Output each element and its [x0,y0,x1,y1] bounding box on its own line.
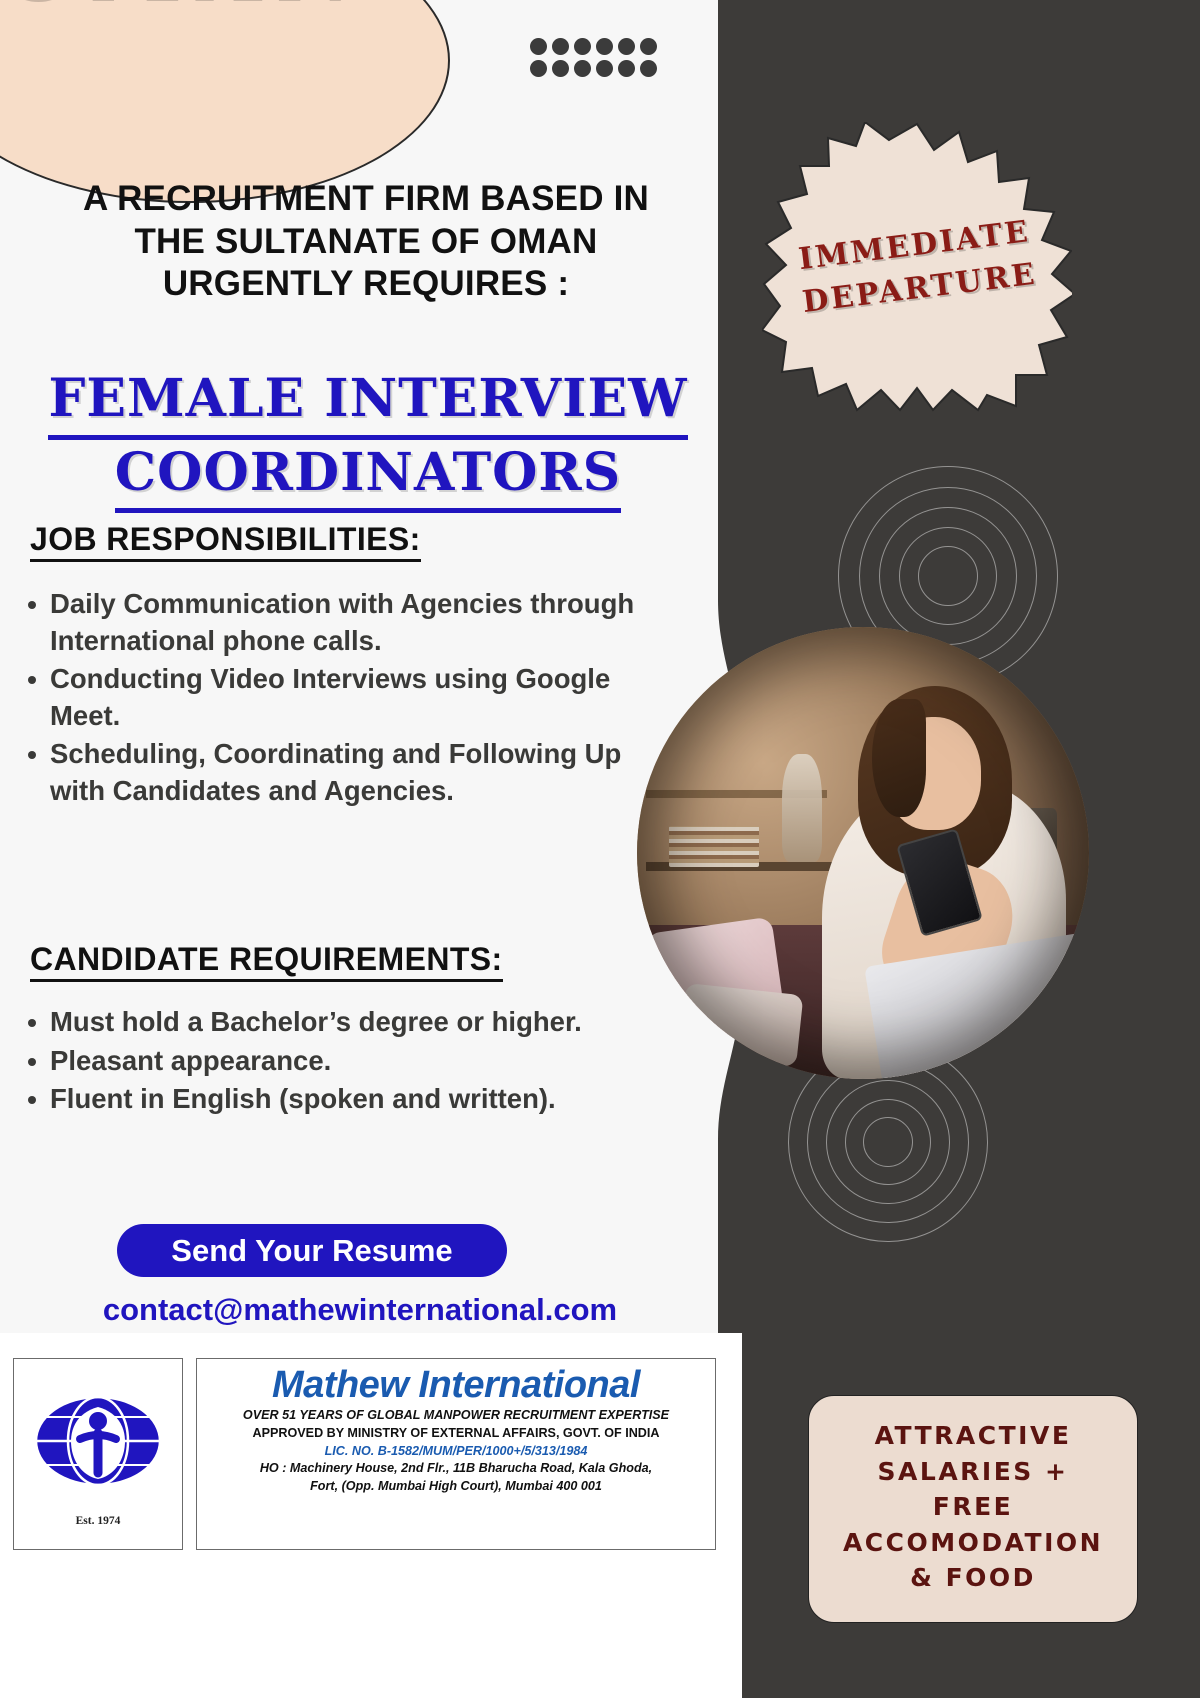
company-logo-box: Est. 1974 [13,1358,183,1550]
immediate-departure-badge: IMMEDIATE DEPARTURE [762,122,1072,412]
logo-established-label: Est. 1974 [76,1515,121,1527]
job-title-line-1: FEMALE INTERVIEW [48,366,687,440]
salary-line-4: ACCOMODATION [823,1525,1123,1561]
salary-line-1: ATTRACTIVE [823,1418,1123,1454]
contact-email[interactable]: contact@mathewinternational.com [20,1292,700,1328]
company-tagline: OVER 51 YEARS OF GLOBAL MANPOWER RECRUIT… [197,1407,715,1425]
country-badge-label: OMAN [0,0,412,12]
job-title-line-2: COORDINATORS [115,440,621,514]
job-title: FEMALE INTERVIEW COORDINATORS [18,366,718,513]
headline-line-1: A RECRUITMENT FIRM BASED IN [26,178,706,221]
requirements-list: Must hold a Bachelor’s degree or higher.… [20,1004,660,1120]
company-name: Mathew International [197,1365,715,1407]
poster-headline: A RECRUITMENT FIRM BASED IN THE SULTANAT… [26,178,706,306]
salary-benefits-card: ATTRACTIVE SALARIES + FREE ACCOMODATION … [808,1395,1138,1623]
requirements-heading: CANDIDATE REQUIREMENTS: [30,941,503,982]
list-item: Daily Communication with Agencies throug… [20,586,660,659]
company-license: LIC. NO. B-1582/MUM/PER/1000+/5/313/1984 [197,1443,715,1461]
salary-line-3: FREE [823,1489,1123,1525]
responsibilities-heading: JOB RESPONSIBILITIES: [30,521,421,562]
list-item: Fluent in English (spoken and written). [20,1081,660,1118]
headline-line-2: THE SULTANATE OF OMAN [26,221,706,264]
company-address-line-1: HO : Machinery House, 2nd Flr., 11B Bhar… [197,1460,715,1478]
salary-line-5: & FOOD [823,1560,1123,1596]
headline-line-3: URGENTLY REQUIRES : [26,263,706,306]
company-approval: APPROVED BY MINISTRY OF EXTERNAL AFFAIRS… [197,1425,715,1443]
list-item: Conducting Video Interviews using Google… [20,661,660,734]
list-item: Must hold a Bachelor’s degree or higher. [20,1004,660,1041]
recruitment-poster: OMAN A RECRUITMENT FIRM BASED IN THE SUL… [0,0,1200,1698]
candidate-photo [637,627,1089,1079]
responsibilities-list: Daily Communication with Agencies throug… [20,586,660,811]
company-address-line-2: Fort, (Opp. Mumbai High Court), Mumbai 4… [197,1478,715,1496]
company-info-card: Mathew International OVER 51 YEARS OF GL… [196,1358,716,1550]
send-resume-button[interactable]: Send Your Resume [117,1224,507,1277]
list-item: Pleasant appearance. [20,1043,660,1080]
list-item: Scheduling, Coordinating and Following U… [20,736,660,809]
salary-line-2: SALARIES + [823,1454,1123,1490]
dot-grid-icon [530,38,662,82]
globe-person-logo-icon [32,1381,164,1513]
